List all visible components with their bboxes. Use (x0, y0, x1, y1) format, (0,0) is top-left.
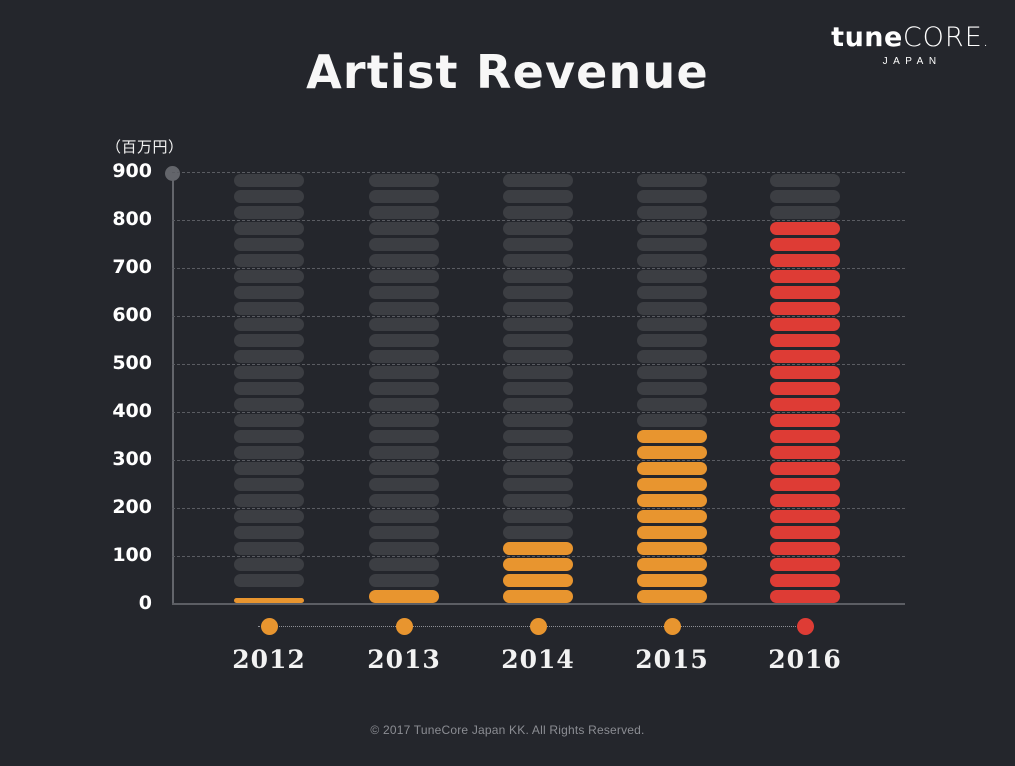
bar-segment-filled (637, 494, 707, 507)
bar-segment-empty (770, 190, 840, 203)
bar-segment-empty (234, 206, 304, 219)
year-marker-dot-2012[interactable] (261, 618, 278, 635)
y-axis-tick: 900 (90, 172, 152, 173)
bar-segment-empty (369, 222, 439, 235)
bar-segment-empty (234, 286, 304, 299)
y-axis-tick: 700 (90, 268, 152, 269)
bar-segment-empty (234, 382, 304, 395)
bar-segment-empty (369, 398, 439, 411)
bar-segment-filled (770, 222, 840, 235)
year-marker-dot-2014[interactable] (530, 618, 547, 635)
y-axis-tick: 800 (90, 220, 152, 221)
bar-segment-empty (234, 462, 304, 475)
y-axis-tick: 300 (90, 460, 152, 461)
bar-segment-empty (503, 382, 573, 395)
bar-segment-filled (770, 238, 840, 251)
bar-segment-empty (234, 238, 304, 251)
bar-segment-filled (770, 318, 840, 331)
bar-segment-empty (369, 206, 439, 219)
bar-segment-empty (503, 350, 573, 363)
bar-segment-empty (637, 350, 707, 363)
y-axis-tick-label: 700 (112, 256, 152, 278)
chart-page: tuneCORE. JAPAN Artist Revenue （百万円） 900… (0, 0, 1015, 766)
bar-segment-empty (234, 302, 304, 315)
bar-segment-empty (369, 270, 439, 283)
y-axis-tick-label: 900 (112, 160, 152, 182)
bar-segment-empty (234, 270, 304, 283)
y-axis-cap-dot (165, 166, 180, 181)
bar-segment-empty (369, 334, 439, 347)
bar-segment-empty (369, 238, 439, 251)
bar-segment-empty (369, 414, 439, 427)
y-axis-line (172, 172, 174, 604)
bar-segment-empty (637, 318, 707, 331)
bar-segment-filled (637, 526, 707, 539)
bar-segment-empty (503, 254, 573, 267)
bar-segment-empty (369, 446, 439, 459)
bar-segment-filled (770, 430, 840, 443)
bar-segment-empty (637, 414, 707, 427)
bar-segment-empty (503, 174, 573, 187)
bar-segment-filled (770, 270, 840, 283)
bar-segment-empty (234, 430, 304, 443)
bar-segment-empty (234, 574, 304, 587)
bar-segment-filled (503, 542, 573, 555)
bar-segment-empty (770, 174, 840, 187)
y-axis-tick-label: 800 (112, 208, 152, 230)
bar-segment-empty (234, 510, 304, 523)
bar-segment-filled (770, 510, 840, 523)
bar-segment-empty (234, 446, 304, 459)
bar-segment-empty (234, 350, 304, 363)
bar-segment-filled (637, 590, 707, 603)
bar-segment-empty (234, 190, 304, 203)
bar-segment-filled (770, 366, 840, 379)
bar-segment-filled (770, 590, 840, 603)
bar-segment-filled (770, 574, 840, 587)
bar-segment-empty (637, 366, 707, 379)
bar-segment-empty (369, 574, 439, 587)
bar-segment-empty (369, 558, 439, 571)
bar-segment-filled (637, 510, 707, 523)
y-axis-tick: 100 (90, 556, 152, 557)
bar-segment-empty (503, 302, 573, 315)
bar-segment-filled (637, 430, 707, 443)
bar-segment-empty (369, 366, 439, 379)
bar-segment-filled (770, 558, 840, 571)
bar-segment-empty (503, 206, 573, 219)
bar-segment-filled (770, 286, 840, 299)
bar-segment-filled (770, 350, 840, 363)
bar-segment-empty (503, 462, 573, 475)
copyright-footer: © 2017 TuneCore Japan KK. All Rights Res… (0, 723, 1015, 737)
x-axis-label-2015: 2015 (612, 645, 732, 674)
bar-segment-empty (503, 270, 573, 283)
year-marker-dot-2016[interactable] (797, 618, 814, 635)
bar-segment-empty (369, 510, 439, 523)
y-axis-tick-label: 400 (112, 400, 152, 422)
year-marker-dot-2015[interactable] (664, 618, 681, 635)
bar-segment-filled (503, 558, 573, 571)
bar-segment-empty (503, 430, 573, 443)
bar-segment-empty (503, 526, 573, 539)
bar-segment-empty (637, 286, 707, 299)
bar-segment-filled (637, 446, 707, 459)
bar-segment-empty (637, 174, 707, 187)
bar-segment-empty (234, 542, 304, 555)
bar-segment-filled (770, 334, 840, 347)
bar-segment-empty (503, 478, 573, 491)
bar-segment-empty (637, 190, 707, 203)
bar-segment-empty (234, 398, 304, 411)
y-axis-tick: 600 (90, 316, 152, 317)
y-axis-tick: 500 (90, 364, 152, 365)
y-axis-tick: 400 (90, 412, 152, 413)
bar-segment-empty (234, 174, 304, 187)
bar-segment-empty (637, 206, 707, 219)
bar-segment-filled (770, 398, 840, 411)
bar-segment-filled (369, 590, 439, 603)
bar-segment-empty (234, 494, 304, 507)
bar-segment-empty (637, 270, 707, 283)
bar-segment-empty (503, 494, 573, 507)
bar-segment-filled (503, 590, 573, 603)
bar-segment-empty (234, 526, 304, 539)
bar-segment-empty (234, 254, 304, 267)
bar-segment-empty (369, 286, 439, 299)
bar-segment-empty (234, 366, 304, 379)
bar-segment-filled (770, 526, 840, 539)
bar-segment-filled (637, 558, 707, 571)
bar-segment-empty (369, 462, 439, 475)
bar-segment-empty (369, 526, 439, 539)
bar-segment-empty (234, 414, 304, 427)
year-marker-dot-2013[interactable] (396, 618, 413, 635)
bar-segment-empty (503, 318, 573, 331)
bar-segment-empty (369, 254, 439, 267)
bar-segment-filled (770, 302, 840, 315)
bar-segment-empty (503, 398, 573, 411)
bar-segment-empty (234, 222, 304, 235)
bar-segment-empty (503, 510, 573, 523)
bar-segment-filled (637, 574, 707, 587)
bar-segment-filled (770, 446, 840, 459)
bar-segment-filled (770, 382, 840, 395)
bar-segment-filled (637, 462, 707, 475)
bar-segment-empty (503, 334, 573, 347)
bar-segment-empty (637, 382, 707, 395)
bar-segment-filled (770, 542, 840, 555)
bar-segment-empty (503, 446, 573, 459)
bar-segment-empty (637, 254, 707, 267)
y-axis-tick-label: 200 (112, 496, 152, 518)
bar-segment-filled (770, 414, 840, 427)
bar-segment-empty (637, 398, 707, 411)
x-axis-label-2012: 2012 (209, 645, 329, 674)
x-axis-label-2014: 2014 (478, 645, 598, 674)
bar-segment-empty (503, 286, 573, 299)
y-axis-tick: 200 (90, 508, 152, 509)
bar-segment-empty (503, 366, 573, 379)
bar-segment-empty (637, 302, 707, 315)
bar-segment-filled (637, 542, 707, 555)
bar-segment-empty (369, 174, 439, 187)
y-axis-tick-label: 500 (112, 352, 152, 374)
bar-segment-filled (234, 598, 304, 603)
x-axis-label-2016: 2016 (745, 645, 865, 674)
y-axis-tick: 0 (90, 604, 152, 605)
bar-segment-empty (369, 318, 439, 331)
bar-segment-empty (369, 382, 439, 395)
bar-segment-empty (234, 334, 304, 347)
bar-segment-filled (503, 574, 573, 587)
chart-plot-area: 9008007006005004003002001000 20122013201… (0, 0, 1015, 766)
bar-segment-empty (503, 190, 573, 203)
bar-segment-empty (234, 558, 304, 571)
bar-segment-empty (369, 542, 439, 555)
bar-segment-empty (234, 318, 304, 331)
bar-segment-empty (369, 494, 439, 507)
x-axis-label-2013: 2013 (344, 645, 464, 674)
bar-segment-empty (503, 222, 573, 235)
y-axis-tick-label: 600 (112, 304, 152, 326)
bar-segment-empty (234, 478, 304, 491)
bar-segment-empty (503, 414, 573, 427)
bar-segment-filled (770, 478, 840, 491)
bar-segment-empty (503, 238, 573, 251)
bar-segment-empty (369, 430, 439, 443)
bar-segment-filled (770, 494, 840, 507)
y-axis-tick-label: 100 (112, 544, 152, 566)
bar-segment-empty (637, 334, 707, 347)
bar-segment-empty (369, 190, 439, 203)
bar-segment-empty (369, 478, 439, 491)
bar-segment-empty (369, 350, 439, 363)
bar-segment-empty (637, 222, 707, 235)
bar-segment-filled (770, 462, 840, 475)
bar-segment-filled (770, 254, 840, 267)
bar-segment-empty (770, 206, 840, 219)
y-axis-tick-label: 300 (112, 448, 152, 470)
bar-segment-empty (637, 238, 707, 251)
bar-segment-empty (369, 302, 439, 315)
y-axis-tick-label: 0 (139, 592, 152, 614)
bar-segment-filled (637, 478, 707, 491)
